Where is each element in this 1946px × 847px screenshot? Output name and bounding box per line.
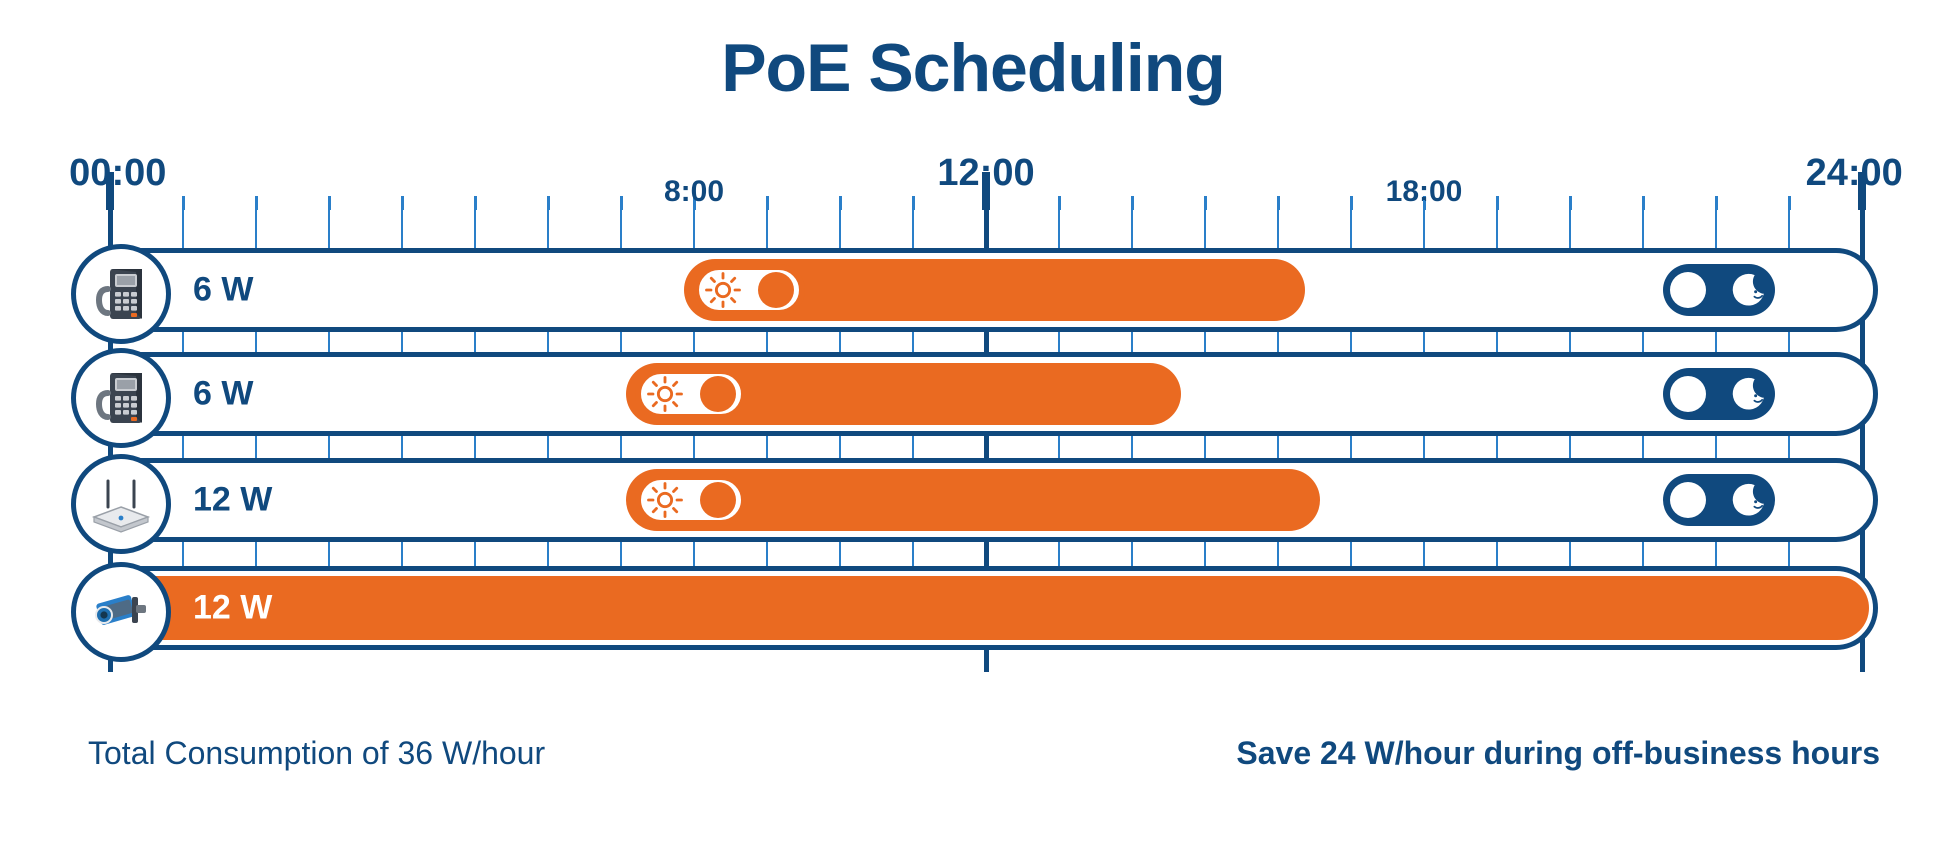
grid-line-hour: [255, 200, 257, 250]
grid-line-hour: [1423, 330, 1425, 354]
grid-line-hour: [839, 330, 841, 354]
power-draw-label: 6 W: [193, 271, 253, 310]
grid-line-hour: [1715, 330, 1717, 354]
grid-line-hour: [1788, 330, 1790, 354]
grid-line-hour: [1131, 330, 1133, 354]
grid-line-hour: [912, 200, 914, 250]
moon-icon: [1730, 375, 1768, 413]
device-icon-badge: [71, 454, 171, 554]
grid-line-hour: [182, 434, 184, 460]
grid-line-hour: [1496, 434, 1498, 460]
grid-line-hour: [766, 200, 768, 250]
grid-line-hour: [693, 330, 695, 354]
grid-line-hour: [1350, 540, 1352, 568]
grid-line-hour: [328, 434, 330, 460]
sun-icon: [646, 375, 684, 413]
grid-line-hour: [328, 540, 330, 568]
sun-toggle[interactable]: [693, 264, 805, 316]
grid-line-hour: [1496, 200, 1498, 250]
device-icon-badge: [71, 244, 171, 344]
toggle-knob[interactable]: [1670, 376, 1706, 412]
grid-line-hour: [474, 540, 476, 568]
sun-icon: [646, 481, 684, 519]
desk-phone-icon: [90, 367, 152, 429]
grid-line-hour: [1277, 434, 1279, 460]
grid-line-hour: [1715, 540, 1717, 568]
grid-line-hour: [620, 200, 622, 250]
grid-line-hour: [255, 540, 257, 568]
grid-line-hour: [1715, 200, 1717, 250]
grid-line-hour: [328, 330, 330, 354]
moon-toggle[interactable]: [1663, 368, 1775, 420]
device-row[interactable]: 12 W: [88, 566, 1878, 650]
grid-line-hour: [620, 434, 622, 460]
grid-line-hour: [693, 200, 695, 250]
sun-icon: [704, 271, 742, 309]
grid-line-hour: [1642, 434, 1644, 460]
power-draw-label: 12 W: [193, 589, 272, 628]
device-row[interactable]: 6 W: [88, 248, 1878, 332]
grid-line-hour: [766, 434, 768, 460]
grid-line-hour: [1277, 200, 1279, 250]
grid-line-hour: [182, 200, 184, 250]
grid-line-hour: [1204, 540, 1206, 568]
total-consumption-label: Total Consumption of 36 W/hour: [88, 735, 545, 772]
grid-line-hour: [693, 540, 695, 568]
desk-phone-icon: [90, 263, 152, 325]
active-period-bar[interactable]: [97, 576, 1869, 640]
grid-line-hour: [1131, 540, 1133, 568]
grid-line-hour: [547, 434, 549, 460]
grid-line-hour: [1204, 200, 1206, 250]
grid-line-hour: [1642, 540, 1644, 568]
grid-line-hour: [1642, 200, 1644, 250]
grid-line-hour: [839, 434, 841, 460]
grid-line-hour: [474, 200, 476, 250]
grid-line-hour: [1569, 540, 1571, 568]
grid-line-hour: [401, 330, 403, 354]
grid-line-hour: [547, 200, 549, 250]
grid-line-hour: [1058, 434, 1060, 460]
power-draw-label: 6 W: [193, 375, 253, 414]
grid-line-hour: [1350, 200, 1352, 250]
grid-line-hour: [1788, 200, 1790, 250]
grid-line-hour: [1569, 434, 1571, 460]
grid-line-hour: [839, 200, 841, 250]
grid-line-hour: [1788, 434, 1790, 460]
grid-line-hour: [766, 330, 768, 354]
grid-line-hour: [912, 434, 914, 460]
toggle-knob[interactable]: [758, 272, 794, 308]
moon-icon: [1730, 271, 1768, 309]
grid-line-hour: [620, 540, 622, 568]
grid-line-hour: [1277, 540, 1279, 568]
grid-line-hour: [1204, 330, 1206, 354]
grid-line-hour: [1423, 540, 1425, 568]
grid-line-hour: [1131, 434, 1133, 460]
grid-line-hour: [474, 434, 476, 460]
grid-line-hour: [839, 540, 841, 568]
power-draw-label: 12 W: [193, 481, 272, 520]
grid-line-hour: [1423, 200, 1425, 250]
grid-line-hour: [1496, 540, 1498, 568]
grid-line-hour: [547, 330, 549, 354]
sun-toggle[interactable]: [635, 368, 747, 420]
grid-line-hour: [1058, 330, 1060, 354]
grid-line-hour: [912, 330, 914, 354]
device-row[interactable]: 12 W: [88, 458, 1878, 542]
grid-line-hour: [1569, 200, 1571, 250]
grid-line-hour: [1496, 330, 1498, 354]
device-icon-badge: [71, 348, 171, 448]
grid-line-hour: [328, 200, 330, 250]
axis-major-label: 00:00: [69, 152, 166, 195]
toggle-knob[interactable]: [700, 482, 736, 518]
moon-toggle[interactable]: [1663, 474, 1775, 526]
sun-toggle[interactable]: [635, 474, 747, 526]
grid-line-hour: [1058, 540, 1060, 568]
poe-scheduling-infographic: PoE Scheduling 00:0012:0024:008:0018:00 …: [0, 0, 1946, 847]
grid-line-hour: [1131, 200, 1133, 250]
grid-line-hour: [1058, 200, 1060, 250]
grid-line-hour: [401, 540, 403, 568]
grid-line-hour: [1569, 330, 1571, 354]
toggle-knob[interactable]: [1670, 482, 1706, 518]
grid-line-hour: [1642, 330, 1644, 354]
grid-line-hour: [1423, 434, 1425, 460]
grid-line-hour: [401, 434, 403, 460]
grid-line-hour: [1204, 434, 1206, 460]
grid-line-hour: [255, 434, 257, 460]
grid-line-hour: [766, 540, 768, 568]
grid-line-hour: [547, 540, 549, 568]
grid-line-hour: [474, 330, 476, 354]
moon-toggle[interactable]: [1663, 264, 1775, 316]
grid-line-hour: [1350, 330, 1352, 354]
ip-camera-icon: [88, 581, 154, 643]
grid-line-hour: [693, 434, 695, 460]
toggle-knob[interactable]: [700, 376, 736, 412]
grid-line-hour: [912, 540, 914, 568]
savings-label: Save 24 W/hour during off-business hours: [1236, 735, 1880, 772]
device-row[interactable]: 6 W: [88, 352, 1878, 436]
toggle-knob[interactable]: [1670, 272, 1706, 308]
wireless-access-point-icon: [88, 473, 154, 535]
axis-major-label: 12:00: [937, 152, 1034, 195]
grid-line-hour: [1788, 540, 1790, 568]
grid-line-hour: [182, 330, 184, 354]
grid-line-hour: [401, 200, 403, 250]
device-icon-badge: [71, 562, 171, 662]
grid-line-hour: [255, 330, 257, 354]
grid-line-hour: [1277, 330, 1279, 354]
grid-line-hour: [620, 330, 622, 354]
axis-major-label: 24:00: [1806, 152, 1903, 195]
page-title: PoE Scheduling: [0, 34, 1946, 102]
grid-line-hour: [1350, 434, 1352, 460]
grid-line-hour: [182, 540, 184, 568]
moon-icon: [1730, 481, 1768, 519]
timeline-ruler: [0, 196, 1946, 210]
grid-line-hour: [1715, 434, 1717, 460]
